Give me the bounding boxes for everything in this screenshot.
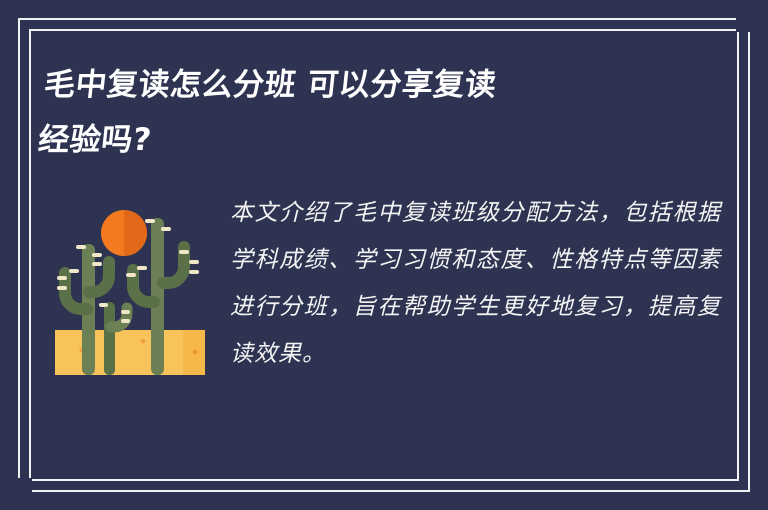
sand-ground [55, 330, 205, 375]
sun-icon [101, 210, 147, 256]
illustration-container [47, 190, 222, 375]
page-title: 毛中复读怎么分班 可以分享复读 经验吗? [35, 58, 687, 168]
page-title-line-2: 经验吗? [35, 113, 681, 168]
frame-corner-cut-top-right [736, 0, 750, 32]
page-title-line-1: 毛中复读怎么分班 可以分享复读 [41, 58, 687, 113]
desert-cactus-illustration [47, 200, 212, 375]
article-cover-card: 毛中复读怎么分班 可以分享复读 经验吗? [0, 0, 768, 510]
article-body: 本文介绍了毛中复读班级分配方法，包括根据学科成绩、学习习惯和态度、性格特点等因素… [47, 190, 721, 378]
article-summary-text: 本文介绍了毛中复读班级分配方法，包括根据学科成绩、学习习惯和态度、性格特点等因素… [222, 190, 721, 378]
frame-corner-cut-bottom-left [0, 478, 32, 492]
